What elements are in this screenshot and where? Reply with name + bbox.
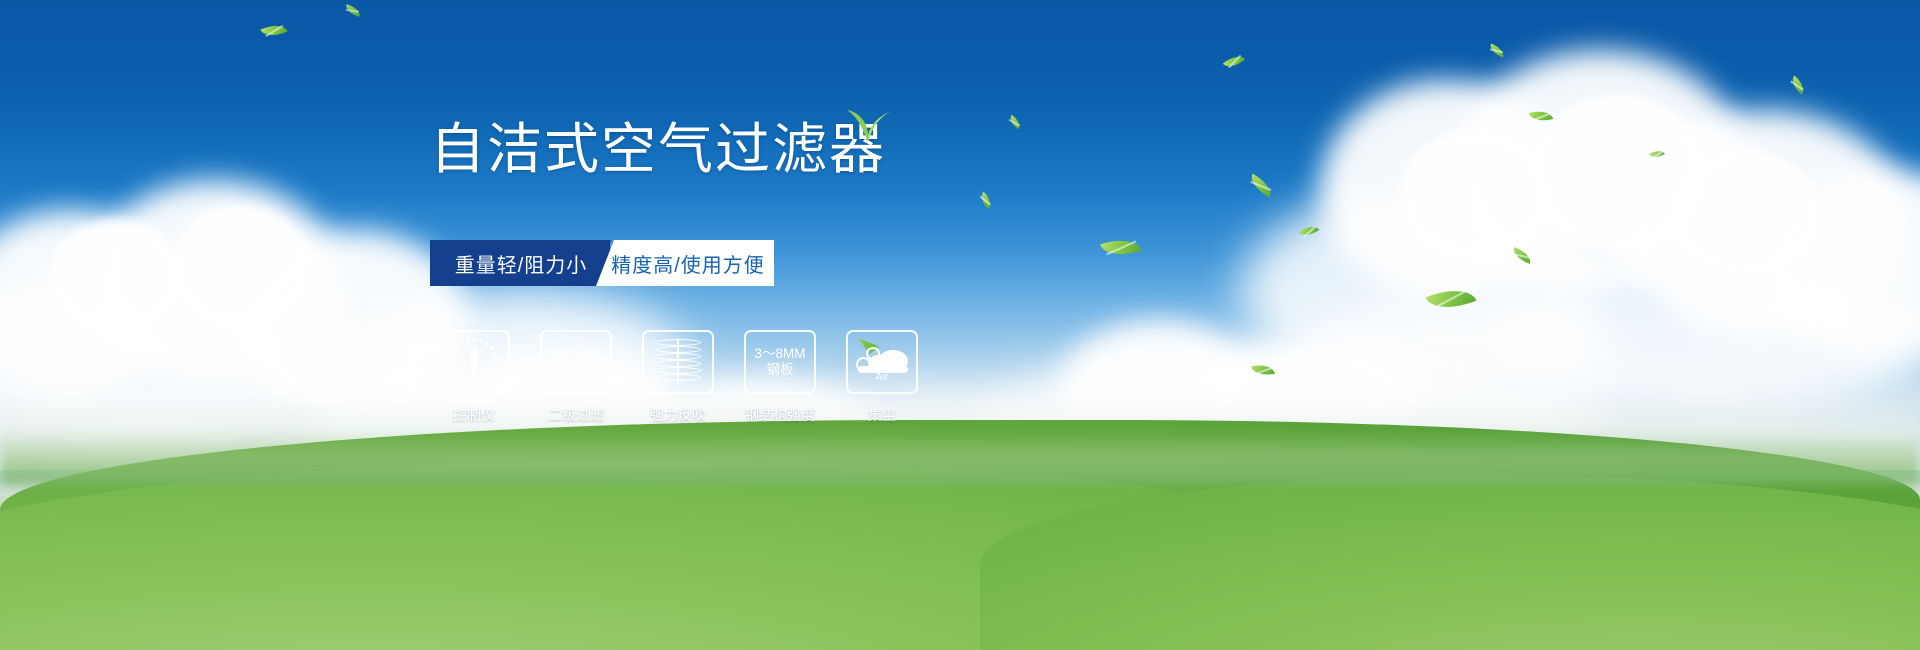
feature-box: 0.6～0.8 MPA [540, 330, 612, 394]
tab-label: 精度高/使用方便 [611, 249, 765, 278]
feature-box: 3～8MM 钢板 [744, 330, 816, 394]
tab-precision-convenience[interactable]: 精度高/使用方便 [596, 240, 774, 286]
feature-box: Air [846, 330, 918, 394]
feature-label: 控制仪 [453, 405, 495, 425]
feature-box: NO OFF [438, 330, 510, 394]
title-leaf-icon [845, 108, 891, 142]
cloud-air-label: Air [854, 369, 910, 385]
banner-content: 自洁式空气过滤器 重量轻/阻力小 精度高/使用方便 [0, 0, 1920, 650]
feature-item-two-stage-filter[interactable]: 0.6～0.8 MPA 二级过滤 [540, 330, 612, 425]
feature-tabs: 重量轻/阻力小 精度高/使用方便 [430, 240, 774, 286]
feature-box-line1: 0.6～0.8 [550, 346, 601, 362]
feature-item-dust-collection[interactable]: Air 集尘 [846, 330, 918, 425]
cloud-air-icon: Air [854, 340, 910, 384]
page-title: 自洁式空气过滤器 [430, 118, 886, 180]
gauge-icon: NO OFF [447, 338, 501, 386]
feature-box-line2: MPA [562, 362, 590, 378]
feature-item-controller[interactable]: NO OFF 控制仪 [438, 330, 510, 425]
tab-label: 重量轻/阻力小 [455, 249, 588, 278]
gauge-left-label: NO [447, 359, 457, 375]
coil-icon [655, 338, 701, 386]
feature-label: 集尘 [868, 405, 896, 425]
feature-icon-list: NO OFF 控制仪 0.6～0.8 MPA 二级过滤 [438, 330, 918, 425]
tab-weight-resistance[interactable]: 重量轻/阻力小 [430, 240, 610, 286]
feature-box-line1: 3～8MM [754, 346, 805, 362]
gauge-right-label: OFF [488, 371, 501, 387]
feature-label: 强力反吹 [650, 405, 706, 425]
feature-label: 钢结构强度 [745, 405, 815, 425]
feature-box [642, 330, 714, 394]
feature-box-line2: 钢板 [767, 362, 794, 378]
feature-label: 二级过滤 [548, 405, 604, 425]
feature-item-steel-strength[interactable]: 3～8MM 钢板 钢结构强度 [744, 330, 816, 425]
product-hero-banner: 自洁式空气过滤器 重量轻/阻力小 精度高/使用方便 [0, 0, 1920, 650]
feature-item-backflush[interactable]: 强力反吹 [642, 330, 714, 425]
